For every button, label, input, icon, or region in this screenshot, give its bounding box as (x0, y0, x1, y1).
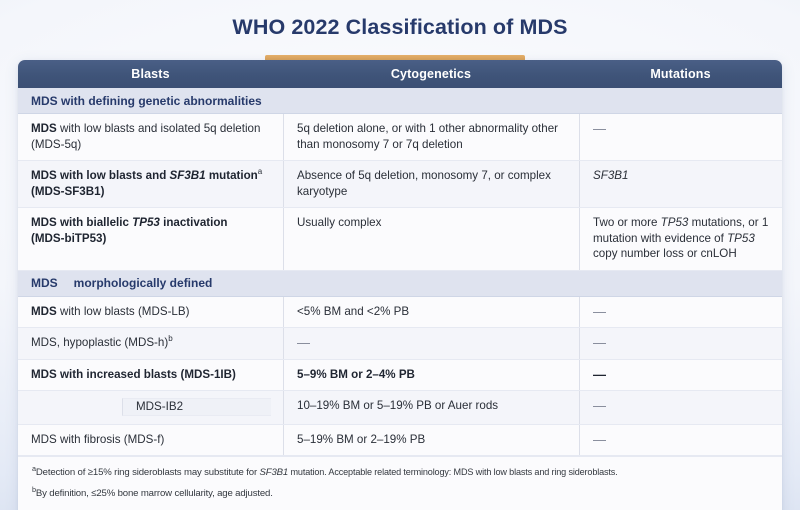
cell-cytogenetics: — (283, 328, 579, 359)
cell-cytogenetics: 10–19% BM or 5–19% PB or Auer rods (283, 391, 579, 424)
table-row: MDS with biallelic TP53 inactivation (MD… (18, 208, 782, 271)
row-name-abbrev: (MDS-5q) (31, 138, 81, 151)
footnote-a-gene: SF3B1 (260, 467, 289, 478)
cell-cytogenetics: 5q deletion alone, or with 1 other abnor… (283, 114, 579, 160)
cell-mutations: SF3B1 (579, 161, 782, 207)
row-name-mds-1ib: MDS with increased blasts (MDS-1IB) (18, 360, 283, 391)
row-name-mds-ib2-wrap: MDS-IB2 (18, 391, 283, 424)
cell-mutations: — (579, 114, 782, 160)
footnote-b: bBy definition, ≤25% bone marrow cellula… (32, 487, 768, 500)
gene-tp53-ref2: TP53 (727, 232, 755, 245)
row-name-lead: MDS (31, 122, 57, 135)
row-name-lead: MDS (31, 368, 57, 381)
cell-mutations: — (579, 328, 782, 359)
table-row: MDS with fibrosis (MDS-f) 5–19% BM or 2–… (18, 425, 782, 457)
column-header-blasts: Blasts (18, 67, 283, 81)
row-name-lead: MDS (31, 336, 57, 349)
footnote-marker-b: b (168, 334, 172, 343)
section-header-label: MDSmorphologically defined (31, 276, 212, 290)
row-name-rest: with low blasts and isolated 5q deletion (57, 122, 261, 135)
cell-cytogenetics: 5–9% BM or 2–4% PB (283, 360, 579, 391)
table-row: MDS with low blasts and SF3B1 mutationa … (18, 161, 782, 208)
gene-tp53-ref: TP53 (661, 216, 689, 229)
footnotes: aDetection of ≥15% ring sideroblasts may… (18, 456, 782, 510)
row-name-rest: , hypoplastic (MDS-h) (57, 336, 168, 349)
row-name-mds-h: MDS, hypoplastic (MDS-h)b (18, 328, 283, 359)
row-name-mds-sf3b1: MDS with low blasts and SF3B1 mutationa … (18, 161, 283, 207)
row-name-lead: MDS (31, 169, 57, 182)
gene-sf3b1-mutation: SF3B1 (593, 169, 628, 182)
table-row: MDS with low blasts (MDS-LB) <5% BM and … (18, 297, 782, 329)
row-name-lead: MDS (31, 305, 57, 318)
cell-mutations: — (579, 425, 782, 456)
title-bar: WHO 2022 Classification of MDS (0, 0, 800, 54)
page-title: WHO 2022 Classification of MDS (232, 15, 567, 40)
cell-mutations: — (579, 360, 782, 391)
gene-sf3b1: SF3B1 (170, 169, 206, 182)
table-row: MDS, hypoplastic (MDS-h)b — — (18, 328, 782, 360)
footnote-marker-a: a (258, 167, 262, 176)
cell-cytogenetics: <5% BM and <2% PB (283, 297, 579, 328)
row-name-abbrev: (MDS-SF3B1) (31, 185, 104, 198)
cell-mutations: — (579, 297, 782, 328)
row-name-rest: with fibrosis (MDS-f) (57, 433, 165, 446)
cell-cytogenetics: 5–19% BM or 2–19% PB (283, 425, 579, 456)
section-header-morphologically-defined: MDSmorphologically defined (18, 271, 782, 297)
row-name-rest: with increased blasts (MDS-1IB) (57, 368, 236, 381)
row-name-mds-lb: MDS with low blasts (MDS-LB) (18, 297, 283, 328)
gene-tp53: TP53 (132, 216, 160, 229)
footnote-a-pre: Detection of ≥15% ring sideroblasts may … (36, 467, 260, 478)
column-header-mutations: Mutations (579, 67, 782, 81)
footnote-a-post: mutation. Acceptable related terminology… (288, 467, 617, 477)
column-header-cytogenetics: Cytogenetics (283, 67, 579, 81)
section-header-label: MDS with defining genetic abnormalities (31, 94, 262, 108)
table-row: MDS-IB2 10–19% BM or 5–19% PB or Auer ro… (18, 391, 782, 425)
cell-cytogenetics: Usually complex (283, 208, 579, 270)
table-row: MDS with low blasts and isolated 5q dele… (18, 114, 782, 161)
row-name-lead: MDS (31, 216, 57, 229)
row-name-mds-bitp53: MDS with biallelic TP53 inactivation (MD… (18, 208, 283, 270)
row-name-mds-f: MDS with fibrosis (MDS-f) (18, 425, 283, 456)
footnote-a: aDetection of ≥15% ring sideroblasts may… (32, 466, 768, 479)
table-header-row: Blasts Cytogenetics Mutations (18, 60, 782, 88)
row-name-rest: with low blasts (MDS-LB) (57, 305, 190, 318)
footnote-b-text: By definition, ≤25% bone marrow cellular… (36, 488, 273, 499)
classification-table-card: Blasts Cytogenetics Mutations MDS with d… (18, 60, 782, 510)
row-name-lead: MDS (31, 433, 57, 446)
row-name-abbrev: (MDS-biTP53) (31, 232, 106, 245)
cell-cytogenetics: Absence of 5q deletion, monosomy 7, or c… (283, 161, 579, 207)
section-header-genetic-abnormalities: MDS with defining genetic abnormalities (18, 88, 782, 114)
cell-mutations: — (579, 391, 782, 424)
table-row: MDS with increased blasts (MDS-1IB) 5–9%… (18, 360, 782, 392)
row-name-mds-5q: MDS with low blasts and isolated 5q dele… (18, 114, 283, 160)
row-name-mds-ib2: MDS-IB2 (122, 398, 271, 416)
cell-mutations: Two or more TP53 mutations, or 1 mutatio… (579, 208, 782, 270)
